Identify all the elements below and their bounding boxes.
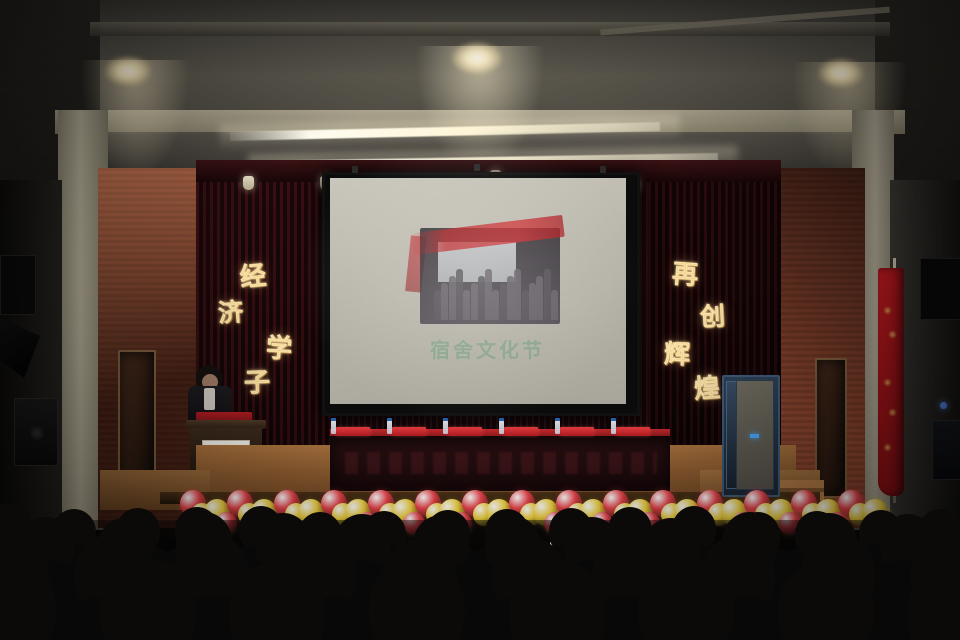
name-placard (392, 427, 426, 436)
slide-photo-person (529, 283, 536, 320)
wall-control-panel-right[interactable] (932, 420, 960, 480)
slide-photo-person (522, 290, 529, 320)
flag-emblem-mark (888, 330, 897, 339)
bottle-cap-icon (331, 418, 336, 421)
slide-photo-person (434, 290, 441, 320)
head-table-banner-text (345, 452, 657, 474)
ceremonial-red-flag (878, 268, 904, 496)
wall-character-right-1: 再 (671, 261, 699, 289)
wall-character-left-2: 济 (217, 299, 244, 326)
wall-monitor-left (0, 255, 36, 315)
slide-photo-person (441, 283, 448, 320)
av-rack-status-led-icon (750, 434, 759, 438)
name-placard (616, 427, 650, 436)
bottle-cap-icon (443, 418, 448, 421)
table-water-bottle (555, 420, 560, 434)
flag-emblem-mark (888, 408, 897, 417)
screen-hook-icon (600, 166, 606, 173)
slide-photo-person (449, 276, 456, 320)
bottle-cap-icon (611, 418, 616, 421)
auditorium-photo: 经 济 学 子 再 创 辉 煌 宿舍文化节 (0, 0, 960, 640)
presenter-shirt (204, 388, 215, 410)
wall-character-left-1: 经 (239, 263, 268, 292)
name-placard (504, 427, 538, 436)
slide-photo-person (471, 283, 478, 320)
wall-character-right-2: 创 (699, 303, 725, 329)
ceiling-beam (90, 22, 890, 36)
slide-photo-person (514, 269, 521, 320)
table-water-bottle (387, 420, 392, 434)
table-water-bottle (611, 420, 616, 434)
slide-photo-person (544, 269, 551, 320)
screen-hook-icon (352, 166, 358, 173)
table-water-bottle (499, 420, 504, 434)
slide-caption: 宿舍文化节 (390, 334, 585, 363)
slide-photo-person (463, 290, 470, 320)
pa-speaker-cone-icon (30, 426, 44, 440)
spotlight-right-icon (818, 58, 864, 88)
slide-photo-person (485, 269, 492, 320)
spotlight-left-icon (105, 56, 151, 86)
bottle-cap-icon (555, 418, 560, 421)
slide-photo-person (551, 290, 558, 320)
bottle-cap-icon (387, 418, 392, 421)
stage-minispot-icon (243, 176, 254, 190)
slide-photo-person (456, 269, 463, 320)
wall-character-right-4: 煌 (693, 375, 721, 403)
flag-emblem-mark (883, 306, 892, 315)
wall-monitor-right (920, 258, 960, 320)
screen-hook-icon (474, 164, 480, 171)
name-placard (448, 427, 482, 436)
wall-indicator-led-icon (940, 402, 947, 409)
flag-emblem-mark (883, 378, 892, 387)
slide-photo-person (500, 283, 507, 320)
name-placard (560, 427, 594, 436)
bottle-cap-icon (499, 418, 504, 421)
slide-photo-person (536, 276, 543, 320)
name-placard (336, 427, 370, 436)
wall-character-left-3: 学 (265, 335, 292, 362)
table-water-bottle (331, 420, 336, 434)
wall-character-left-4: 子 (244, 370, 271, 397)
slide-photo-person (478, 276, 485, 320)
wall-character-right-3: 辉 (664, 342, 691, 369)
table-water-bottle (443, 420, 448, 434)
flag-emblem-mark (883, 443, 892, 452)
spotlight-center-icon (452, 42, 502, 74)
slide-photo-person (492, 290, 499, 320)
slide-photo-person (507, 276, 514, 320)
